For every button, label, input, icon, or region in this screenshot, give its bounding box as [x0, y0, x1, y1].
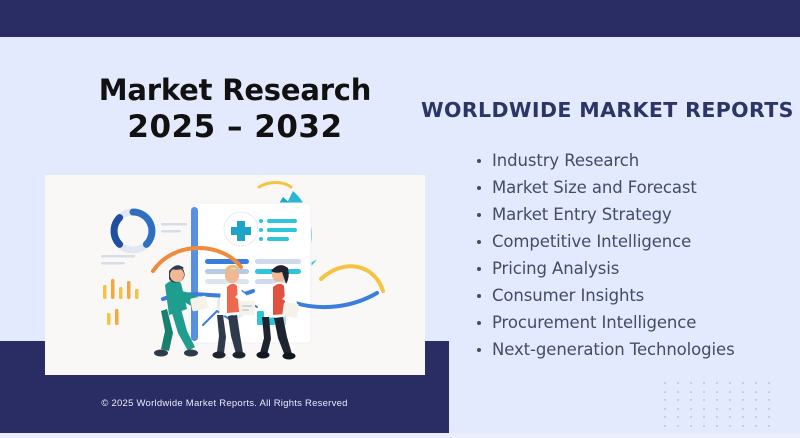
grid-dot	[677, 399, 679, 401]
list-item-label: Market Entry Strategy	[492, 205, 672, 224]
grid-dot	[690, 382, 692, 384]
grid-dot	[755, 425, 757, 427]
bullet-dot-icon	[477, 348, 481, 352]
grid-dot	[664, 391, 666, 393]
grid-dot	[742, 382, 744, 384]
list-item: Competitive Intelligence	[474, 228, 735, 255]
medical-analytics-illustration	[45, 175, 425, 375]
list-item-label: Pricing Analysis	[492, 259, 619, 278]
grid-dot	[664, 416, 666, 418]
grid-dot	[729, 416, 731, 418]
grid-dot	[768, 391, 770, 393]
grid-dot	[729, 391, 731, 393]
grid-dot	[755, 391, 757, 393]
grid-dot	[690, 399, 692, 401]
grid-dot	[729, 399, 731, 401]
marketing-banner: Market Research 2025 – 2032	[0, 0, 800, 438]
dot-grid-decoration	[664, 382, 778, 430]
grid-dot	[690, 425, 692, 427]
grid-dot	[677, 408, 679, 410]
grid-dot	[729, 425, 731, 427]
grid-dot	[690, 408, 692, 410]
bullet-dot-icon	[477, 321, 481, 325]
grid-dot	[703, 391, 705, 393]
brand-title: WORLDWIDE MARKET REPORTS	[421, 98, 794, 122]
grid-dot	[768, 399, 770, 401]
bullet-dot-icon	[477, 186, 481, 190]
grid-dot	[742, 399, 744, 401]
bullet-dot-icon	[477, 240, 481, 244]
list-item-label: Procurement Intelligence	[492, 313, 696, 332]
grid-dot	[742, 416, 744, 418]
service-list: Industry Research Market Size and Foreca…	[474, 147, 735, 363]
list-item: Market Entry Strategy	[474, 201, 735, 228]
grid-dot	[768, 382, 770, 384]
grid-dot	[755, 416, 757, 418]
grid-dot	[677, 416, 679, 418]
grid-dot	[755, 399, 757, 401]
grid-dot	[690, 416, 692, 418]
grid-dot	[664, 425, 666, 427]
bullet-dot-icon	[477, 267, 481, 271]
grid-dot	[677, 391, 679, 393]
page-title: Market Research 2025 – 2032	[45, 72, 425, 147]
grid-dot	[768, 425, 770, 427]
grid-dot	[703, 408, 705, 410]
grid-dot	[768, 416, 770, 418]
bullet-dot-icon	[477, 159, 481, 163]
bottom-strip	[0, 433, 800, 438]
grid-dot	[703, 382, 705, 384]
grid-dot	[703, 399, 705, 401]
list-item-label: Consumer Insights	[492, 286, 644, 305]
grid-dot	[716, 399, 718, 401]
grid-dot	[755, 408, 757, 410]
list-item-label: Next-generation Technologies	[492, 340, 735, 359]
grid-dot	[729, 408, 731, 410]
list-item-label: Market Size and Forecast	[492, 178, 697, 197]
grid-dot	[716, 425, 718, 427]
grid-dot	[677, 425, 679, 427]
grid-dot	[742, 425, 744, 427]
grid-dot	[716, 416, 718, 418]
list-item: Market Size and Forecast	[474, 174, 735, 201]
list-item: Pricing Analysis	[474, 255, 735, 282]
grid-dot	[742, 408, 744, 410]
list-item: Industry Research	[474, 147, 735, 174]
grid-dot	[677, 382, 679, 384]
grid-dot	[716, 382, 718, 384]
copyright-text: © 2025 Worldwide Market Reports. All Rig…	[0, 398, 449, 409]
grid-dot	[742, 391, 744, 393]
grid-dot	[768, 408, 770, 410]
list-item-label: Competitive Intelligence	[492, 232, 691, 251]
grid-dot	[690, 391, 692, 393]
bullet-dot-icon	[477, 213, 481, 217]
headline-line-1: Market Research	[45, 72, 425, 108]
list-item-label: Industry Research	[492, 151, 639, 170]
grid-dot	[729, 382, 731, 384]
grid-dot	[703, 416, 705, 418]
list-item: Procurement Intelligence	[474, 309, 735, 336]
grid-dot	[664, 382, 666, 384]
grid-dot	[664, 399, 666, 401]
grid-dot	[716, 391, 718, 393]
grid-dot	[703, 425, 705, 427]
list-item: Next-generation Technologies	[474, 336, 735, 363]
bullet-dot-icon	[477, 294, 481, 298]
grid-dot	[716, 408, 718, 410]
list-item: Consumer Insights	[474, 282, 735, 309]
grid-dot	[755, 382, 757, 384]
illustration-card	[45, 175, 425, 375]
grid-dot	[664, 408, 666, 410]
headline-line-2: 2025 – 2032	[45, 108, 425, 147]
top-navy-bar	[0, 0, 800, 37]
